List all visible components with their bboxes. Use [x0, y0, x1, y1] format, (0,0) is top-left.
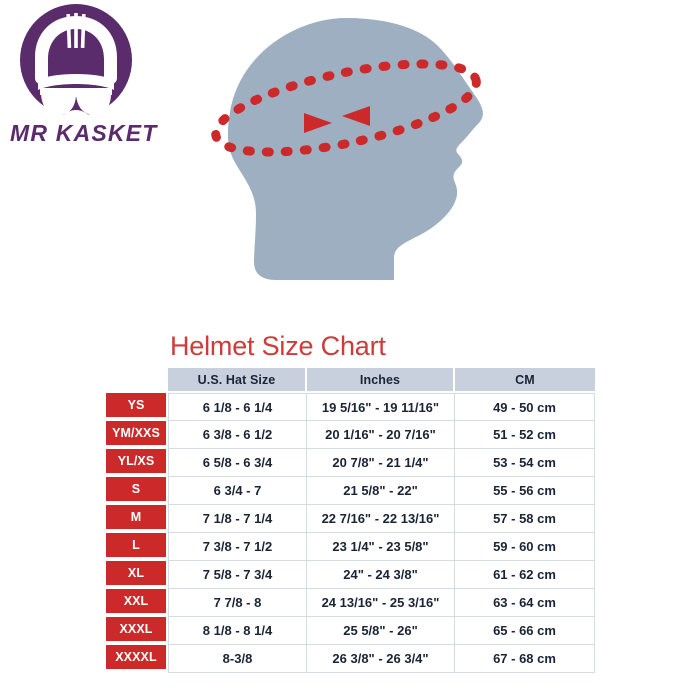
head-profile-measure-illustration [180, 8, 510, 308]
inches-cell: 24" - 24 3/8" [307, 561, 455, 589]
size-label-cell: YL/XS [106, 449, 168, 477]
table-row: XXXL8 1/8 - 8 1/425 5/8" - 26"65 - 66 cm [106, 617, 595, 645]
cm-cell: 51 - 52 cm [455, 421, 595, 449]
table-row: YM/XXS6 3/8 - 6 1/220 1/16" - 20 7/16"51… [106, 421, 595, 449]
size-label-cell: YM/XXS [106, 421, 168, 449]
us-hat-size-cell: 7 5/8 - 7 3/4 [168, 561, 307, 589]
header-us-hat-size: U.S. Hat Size [168, 368, 307, 393]
cm-cell: 55 - 56 cm [455, 477, 595, 505]
table-row: M7 1/8 - 7 1/422 7/16" - 22 13/16"57 - 5… [106, 505, 595, 533]
cm-cell: 57 - 58 cm [455, 505, 595, 533]
helmet-glasses-mustache-icon: MR KASKET [8, 2, 160, 152]
us-hat-size-cell: 6 5/8 - 6 3/4 [168, 449, 307, 477]
inches-cell: 21 5/8" - 22" [307, 477, 455, 505]
helmet-size-table: U.S. Hat Size Inches CM YS6 1/8 - 6 1/41… [106, 368, 595, 673]
cm-cell: 53 - 54 cm [455, 449, 595, 477]
inches-cell: 26 3/8" - 26 3/4" [307, 645, 455, 673]
us-hat-size-cell: 6 3/8 - 6 1/2 [168, 421, 307, 449]
page-title: Helmet Size Chart [170, 333, 386, 360]
table-row: YL/XS6 5/8 - 6 3/420 7/8" - 21 1/4"53 - … [106, 449, 595, 477]
table-row: XL7 5/8 - 7 3/424" - 24 3/8"61 - 62 cm [106, 561, 595, 589]
cm-cell: 67 - 68 cm [455, 645, 595, 673]
size-label-cell: XL [106, 561, 168, 589]
header-size-blank [106, 368, 168, 393]
inches-cell: 24 13/16" - 25 3/16" [307, 589, 455, 617]
size-label-cell: M [106, 505, 168, 533]
table-row: YS6 1/8 - 6 1/419 5/16" - 19 11/16"49 - … [106, 393, 595, 421]
us-hat-size-cell: 7 3/8 - 7 1/2 [168, 533, 307, 561]
table-row: XXXXL8-3/826 3/8" - 26 3/4"67 - 68 cm [106, 645, 595, 673]
size-label-cell: L [106, 533, 168, 561]
inches-cell: 25 5/8" - 26" [307, 617, 455, 645]
table-row: L7 3/8 - 7 1/223 1/4" - 23 5/8"59 - 60 c… [106, 533, 595, 561]
size-label-cell: S [106, 477, 168, 505]
size-label-cell: XXXL [106, 617, 168, 645]
brand-wordmark: MR KASKET [10, 120, 158, 146]
us-hat-size-cell: 8-3/8 [168, 645, 307, 673]
cm-cell: 61 - 62 cm [455, 561, 595, 589]
cm-cell: 65 - 66 cm [455, 617, 595, 645]
us-hat-size-cell: 6 3/4 - 7 [168, 477, 307, 505]
inches-cell: 20 1/16" - 20 7/16" [307, 421, 455, 449]
table-header-row: U.S. Hat Size Inches CM [106, 368, 595, 393]
table-row: S6 3/4 - 721 5/8" - 22"55 - 56 cm [106, 477, 595, 505]
us-hat-size-cell: 8 1/8 - 8 1/4 [168, 617, 307, 645]
us-hat-size-cell: 7 1/8 - 7 1/4 [168, 505, 307, 533]
us-hat-size-cell: 7 7/8 - 8 [168, 589, 307, 617]
inches-cell: 22 7/16" - 22 13/16" [307, 505, 455, 533]
us-hat-size-cell: 6 1/8 - 6 1/4 [168, 393, 307, 421]
cm-cell: 63 - 64 cm [455, 589, 595, 617]
header-inches: Inches [307, 368, 455, 393]
table-row: XXL7 7/8 - 824 13/16" - 25 3/16"63 - 64 … [106, 589, 595, 617]
size-label-cell: XXL [106, 589, 168, 617]
brand-logo: MR KASKET [8, 2, 160, 152]
size-label-cell: XXXXL [106, 645, 168, 673]
inches-cell: 20 7/8" - 21 1/4" [307, 449, 455, 477]
inches-cell: 19 5/16" - 19 11/16" [307, 393, 455, 421]
header-cm: CM [455, 368, 595, 393]
size-label-cell: YS [106, 393, 168, 421]
cm-cell: 49 - 50 cm [455, 393, 595, 421]
inches-cell: 23 1/4" - 23 5/8" [307, 533, 455, 561]
cm-cell: 59 - 60 cm [455, 533, 595, 561]
